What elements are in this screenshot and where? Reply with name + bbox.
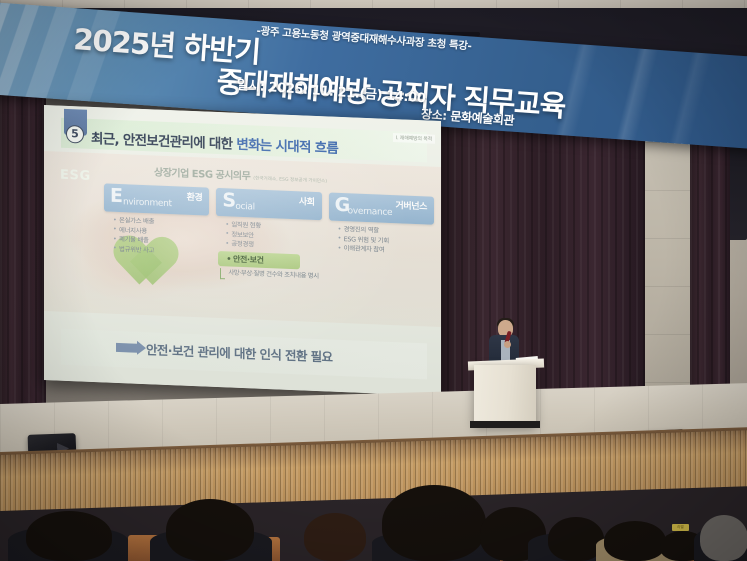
- esg-initial-e: E: [110, 187, 123, 207]
- auditorium-scene: -광주 고용노동청 광역중대재해수사과장 초청 특강- 2025년 하반기 중대…: [0, 0, 747, 561]
- seat-number-plate: 라열: [672, 524, 689, 531]
- esg-korean-social: 사회: [299, 194, 315, 208]
- esg-column-governance: G overnance 거버넌스 경영진의 역할 ESG 위험 및 기회 이해관…: [329, 192, 434, 285]
- slide-header-tag: Ⅰ. 재해예방의 목적: [393, 133, 435, 144]
- arrow-icon: [220, 268, 225, 279]
- slide-number-badge: 5: [66, 125, 84, 144]
- esg-bullets-social: 임직원 현황 정보보안 공정경쟁: [216, 220, 321, 253]
- esg-highlight-safety-health: 안전·보건: [218, 251, 300, 269]
- podium: [474, 365, 536, 425]
- esg-head-social: S ocial 사회: [216, 188, 321, 220]
- esg-initial-s: S: [222, 191, 236, 211]
- audience-head: [700, 515, 747, 561]
- audience-head: [382, 485, 486, 561]
- projection-screen: ESG 5 최근, 안전보건관리에 대한 변화는 시대적 흐름 Ⅰ. 재해예방의…: [44, 105, 441, 396]
- esg-head-governance: G overnance 거버넌스: [329, 192, 434, 224]
- podium-base: [470, 421, 540, 428]
- esg-korean-environment: 환경: [187, 190, 203, 204]
- esg-column-social: S ocial 사회 임직원 현황 정보보안 공정경쟁 안전·보건 사망·부상·…: [216, 188, 321, 281]
- right-arrow-icon: [116, 343, 138, 353]
- esg-columns: E nvironment 환경 온실가스 배출 에너지사용 폐기물 배출 법규위…: [104, 183, 434, 285]
- audience-area: 가열 나열 다열 라열: [0, 505, 747, 561]
- presenter-hand: [504, 341, 511, 348]
- esg-korean-governance: 거버넌스: [395, 198, 427, 212]
- esg-word-governance: overnance: [348, 206, 393, 218]
- esg-heart-label: ESG: [60, 168, 91, 184]
- esg-word-social: ocial: [235, 202, 254, 213]
- esg-head-environment: E nvironment 환경: [104, 183, 209, 215]
- esg-bullets-governance: 경영진의 역할 ESG 위험 및 기회 이해관계자 참여: [329, 224, 434, 257]
- audience-head: [26, 511, 112, 561]
- esg-column-environment: E nvironment 환경 온실가스 배출 에너지사용 폐기물 배출 법규위…: [104, 183, 209, 276]
- audience-head: [166, 499, 254, 561]
- esg-word-environment: nvironment: [123, 197, 172, 209]
- audience-head: [304, 513, 366, 561]
- presentation-slide: ESG 5 최근, 안전보건관리에 대한 변화는 시대적 흐름 Ⅰ. 재해예방의…: [44, 105, 441, 396]
- esg-bullets-environment: 온실가스 배출 에너지사용 폐기물 배출 법규위반 사고: [104, 215, 209, 257]
- audience-head: [604, 521, 666, 561]
